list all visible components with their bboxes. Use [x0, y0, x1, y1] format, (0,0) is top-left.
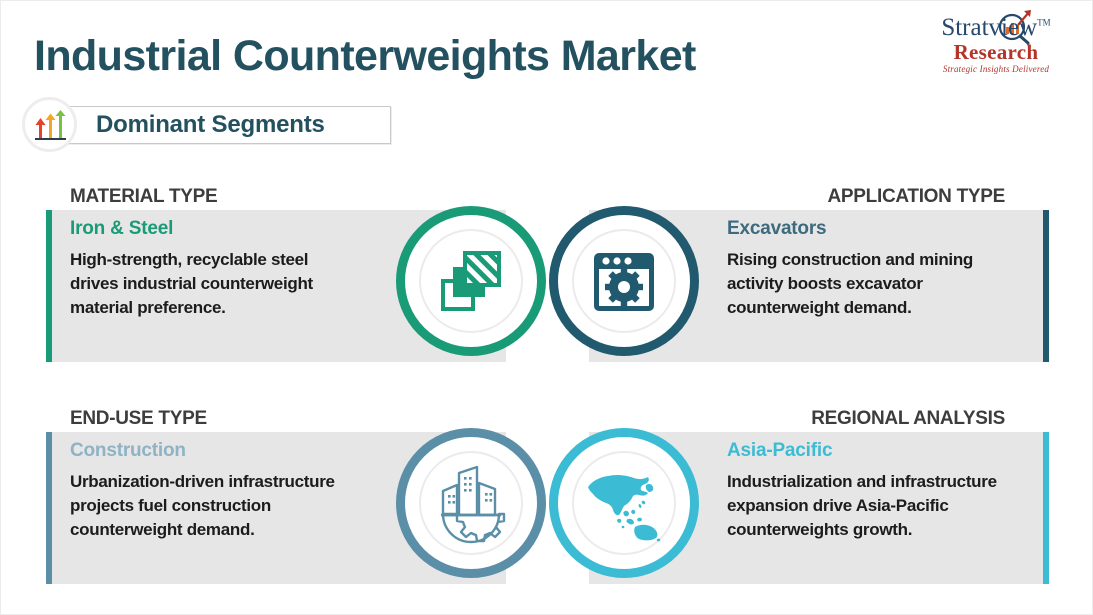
company-logo: StratviewTM Research Strategic Insights …: [916, 15, 1076, 74]
card-heading: REGIONAL ANALYSIS: [811, 408, 1005, 430]
card-accent-bar: [1043, 210, 1049, 362]
card-description: Rising construction and mining activity …: [727, 248, 1017, 320]
logo-tagline: Strategic Insights Delivered: [916, 64, 1076, 74]
card-heading: END-USE TYPE: [70, 408, 207, 430]
card-subtitle: Excavators: [727, 218, 1017, 240]
card-heading: MATERIAL TYPE: [70, 186, 217, 208]
card-accent-bar: [46, 210, 52, 362]
asia-pacific-map-icon: [549, 428, 699, 578]
dominant-segments-badge: Dominant Segments: [22, 97, 391, 152]
browser-window-gear-icon: [549, 206, 699, 356]
card-subtitle: Asia-Pacific: [727, 440, 1017, 462]
badge-frame: Dominant Segments: [61, 106, 391, 144]
card-description: High-strength, recyclable steel drives i…: [70, 248, 360, 320]
card-subtitle: Iron & Steel: [70, 218, 360, 240]
card-subtitle: Construction: [70, 440, 360, 462]
infographic-page: Industrial Counterweights Market Dominan…: [0, 0, 1093, 615]
logo-trademark: TM: [1037, 18, 1051, 28]
three-rising-arrows-icon: [22, 97, 77, 152]
card-description: Industrialization and infrastructure exp…: [727, 470, 1017, 542]
badge-label: Dominant Segments: [96, 111, 325, 139]
card-heading: APPLICATION TYPE: [828, 186, 1005, 208]
card-text-block: Excavators Rising construction and minin…: [727, 218, 1017, 320]
card-accent-bar: [46, 432, 52, 584]
card-accent-bar: [1043, 432, 1049, 584]
layered-sheets-icon: [396, 206, 546, 356]
card-description: Urbanization-driven infrastructure proje…: [70, 470, 360, 542]
page-title: Industrial Counterweights Market: [34, 32, 696, 81]
card-end-use-type: END-USE TYPE Construction Urbanization-d…: [46, 408, 551, 598]
card-text-block: Construction Urbanization-driven infrast…: [70, 440, 360, 542]
card-text-block: Iron & Steel High-strength, recyclable s…: [70, 218, 360, 320]
card-material-type: MATERIAL TYPE Iron & Steel High-strength…: [46, 186, 551, 376]
card-regional-analysis: REGIONAL ANALYSIS Asia-Pacific Industria…: [544, 408, 1049, 598]
logo-name-primary: StratviewTM: [941, 15, 1050, 40]
logo-stratview-text: Stratview: [941, 14, 1037, 41]
card-text-block: Asia-Pacific Industrialization and infra…: [727, 440, 1017, 542]
card-application-type: APPLICATION TYPE Excavators Rising const…: [544, 186, 1049, 376]
buildings-gear-icon: [396, 428, 546, 578]
